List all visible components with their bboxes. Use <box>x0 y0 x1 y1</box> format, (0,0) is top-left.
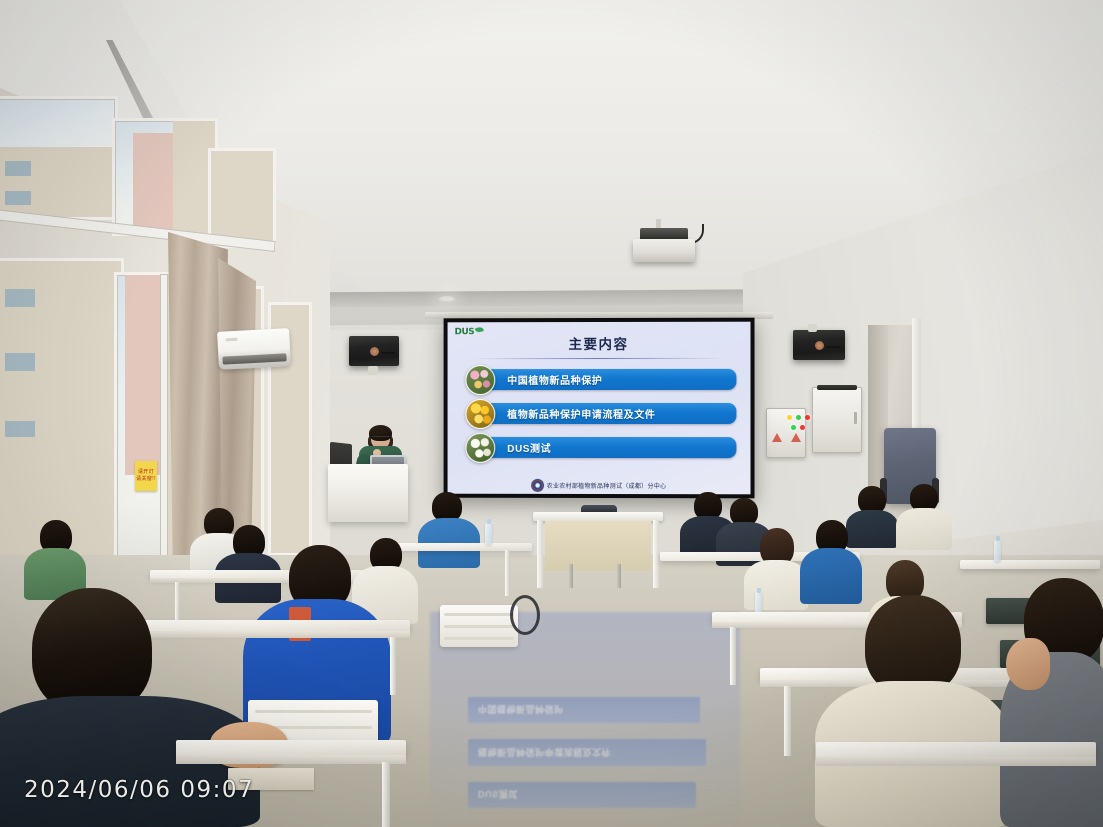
window-lower-left <box>0 258 124 564</box>
reflection-bar: 植物新品种保护申请流程及文件 <box>468 739 706 766</box>
table-leg <box>537 520 543 588</box>
window-view <box>0 261 121 561</box>
desk-edge <box>176 755 406 764</box>
notice-line-2: 请关窗!! <box>136 476 156 484</box>
desk <box>176 740 406 756</box>
slide-bullet-list: 中国植物新品种保护 植物新品种保护申请流程及文件 DUS测试 <box>465 368 736 470</box>
reflection-label: DUS测试 <box>478 788 518 801</box>
table-inner-leg <box>617 564 621 588</box>
window-upper-right <box>208 148 276 248</box>
table-modesty-panel <box>545 521 651 571</box>
chair-slat <box>255 710 372 713</box>
desk-leg <box>730 627 736 685</box>
speaker-cone <box>815 341 824 350</box>
wall-speaker-left <box>349 336 399 366</box>
window-view <box>115 121 215 233</box>
air-conditioner-unit <box>217 328 291 370</box>
panel-led-yellow <box>787 415 792 420</box>
slide-footer: 农业农村部植物新品种测试（成都）分中心 <box>448 479 751 493</box>
window-mullion <box>161 275 167 567</box>
attendee-head <box>865 595 961 695</box>
warning-triangle-icon <box>772 433 782 442</box>
slide-bullet-item: DUS测试 <box>465 436 736 459</box>
table-top <box>533 512 663 521</box>
bullet-bar: 中国植物新品种保护 <box>485 369 736 390</box>
attendee <box>744 528 808 610</box>
camera-timestamp: 2024/06/06 09:07 <box>24 777 254 803</box>
attendee <box>800 520 862 604</box>
flower-thumbnail-pink <box>465 365 495 395</box>
chair-slat <box>444 625 514 628</box>
bullet-label: 植物新品种保护申请流程及文件 <box>507 406 655 421</box>
ac-vent <box>222 353 286 364</box>
slide-bullet-item: 植物新品种保护申请流程及文件 <box>465 402 736 425</box>
bullet-bar: 植物新品种保护申请流程及文件 <box>485 403 736 424</box>
shirt-print <box>333 637 359 655</box>
desk-leg <box>382 762 390 827</box>
speaker-mount <box>808 324 817 332</box>
chair-slat <box>444 613 514 616</box>
slide-footer-text: 农业农村部植物新品种测试（成都）分中心 <box>547 481 667 490</box>
floor-slide-reflection: DUS测试 植物新品种保护申请流程及文件 中国植物新品种保护 <box>452 672 720 822</box>
notice-line-1: 请开灯 <box>138 469 154 477</box>
projection-screen: DUS 主要内容 中国植物新品种保护 植物新品种保护申请流程及文件 <box>444 318 755 499</box>
desk <box>960 560 1100 569</box>
bullet-bar: DUS测试 <box>485 437 736 458</box>
window-view <box>211 151 273 245</box>
attendee-torso <box>744 560 808 610</box>
reflection-label: 中国植物新品种保护 <box>478 703 564 716</box>
desk-leg <box>390 637 396 695</box>
panel-led-red <box>805 415 810 420</box>
attendee <box>896 484 952 550</box>
window-notice-sign: 请开灯 请关窗!! <box>135 461 157 491</box>
window-upper-left <box>0 96 118 220</box>
speaker-slot <box>826 346 840 348</box>
panel-led-green <box>791 425 796 430</box>
table-leg <box>653 520 659 588</box>
speaker-slot <box>381 352 395 354</box>
warning-triangle-icon <box>791 433 801 442</box>
reflection-bar: 中国植物新品种保护 <box>468 697 700 723</box>
water-bottle <box>755 592 762 614</box>
institution-seal-icon <box>531 479 544 492</box>
window-upper-mid <box>112 118 218 236</box>
desk <box>816 742 1096 758</box>
speaker-cone <box>370 347 379 356</box>
ceiling-projector <box>633 239 695 262</box>
electrical-panel-large <box>812 387 862 453</box>
speaker-mount <box>368 366 378 375</box>
lectern <box>328 464 408 522</box>
reflection-bar: DUS测试 <box>468 782 696 808</box>
flower-thumbnail-yellow <box>465 399 495 429</box>
slide-surface: DUS 主要内容 中国植物新品种保护 植物新品种保护申请流程及文件 <box>448 322 751 495</box>
chair[interactable] <box>440 605 518 647</box>
attendee <box>418 492 480 568</box>
attendee-foreground-right <box>815 595 1011 827</box>
cable-coil <box>510 595 540 635</box>
wall-speaker-right <box>793 330 845 360</box>
ceiling-downlight <box>438 296 456 302</box>
presenter-glasses <box>372 436 389 441</box>
bullet-label: 中国植物新品种保护 <box>507 372 602 387</box>
attendee-torso <box>896 508 952 550</box>
flower-thumbnail-white <box>465 433 495 463</box>
panel-led-green <box>796 415 801 420</box>
attendee-hand <box>1006 638 1050 690</box>
slide-bullet-item: 中国植物新品种保护 <box>465 368 736 391</box>
desk-edge <box>816 757 1096 766</box>
panel-led-red <box>800 425 805 430</box>
slide-title: 主要内容 <box>448 333 751 353</box>
window-view <box>0 99 115 217</box>
desk-leg <box>505 550 510 596</box>
ac-indicator <box>225 338 237 342</box>
classroom-photo: 请开灯 请关窗!! <box>0 0 1103 827</box>
water-bottle <box>994 540 1001 562</box>
slide-title-rule <box>471 358 726 359</box>
reflection-label: 植物新品种保护申请流程及文件 <box>478 746 611 759</box>
desk-leg <box>784 686 791 756</box>
chair-slat <box>444 637 514 640</box>
water-bottle <box>485 523 492 545</box>
table-inner-leg <box>569 564 573 588</box>
attendee-foreground-far-right <box>1000 578 1103 827</box>
bullet-label: DUS测试 <box>507 440 551 455</box>
front-table <box>533 512 663 588</box>
